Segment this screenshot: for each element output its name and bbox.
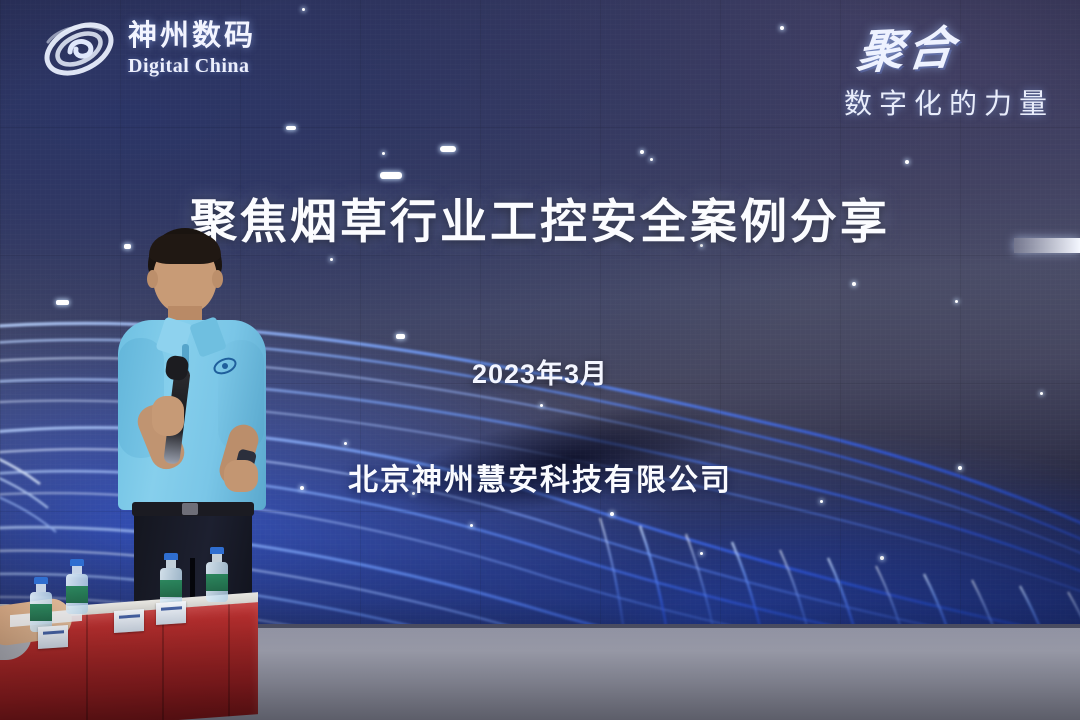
speaker-ear-right [212, 270, 223, 288]
shirt-chest-logo-icon [212, 356, 238, 376]
water-bottle [160, 553, 182, 608]
brand-name-en: Digital China [128, 56, 256, 76]
speaker-belt-buckle [182, 503, 198, 515]
event-calligraphy: 聚合 [840, 11, 962, 83]
speaker-hair-front [149, 234, 221, 264]
brand-name-cn: 神州数码 [128, 22, 256, 51]
name-card [114, 609, 144, 633]
name-card [156, 601, 186, 625]
digital-china-logo: 神州数码 Digital China [40, 18, 256, 80]
event-logo: 聚合 数字化的力量 [844, 14, 1054, 122]
speaker-hand-right [224, 460, 258, 492]
speaker-hand-left [152, 396, 184, 436]
digital-china-spiral-logo-icon [40, 18, 118, 80]
water-bottle [30, 577, 52, 632]
speaker-ear-left [147, 270, 158, 288]
event-tagline: 数字化的力量 [844, 82, 1054, 122]
name-card [38, 625, 68, 649]
screen-edge-highlight [1014, 238, 1080, 253]
presentation-stage-photo: 神州数码 Digital China 聚合 数字化的力量 聚焦烟草行业工控安全案… [0, 0, 1080, 720]
water-bottle [206, 547, 228, 602]
speaker-figure [96, 228, 296, 628]
water-bottle [66, 559, 88, 614]
